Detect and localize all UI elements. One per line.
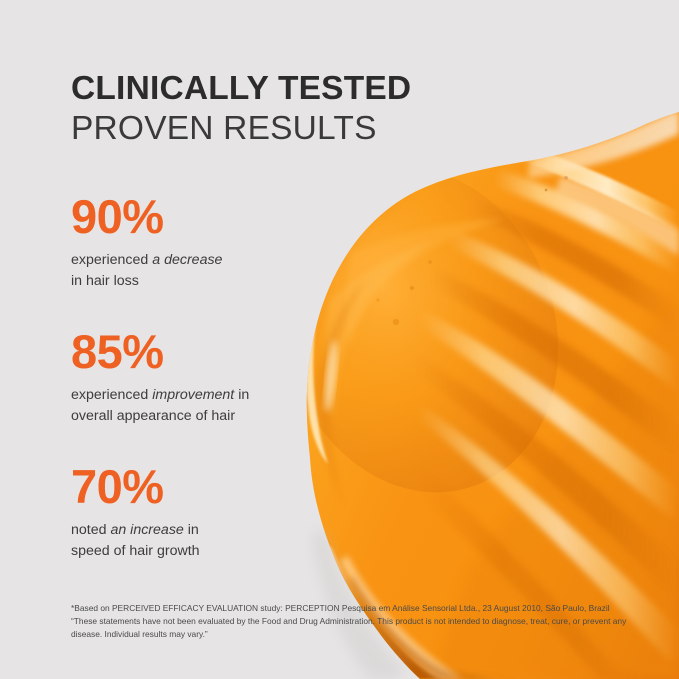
stat-desc-before: experienced: [71, 252, 152, 268]
footnote-disclaimer: *Based on PERCEIVED EFFICACY EVALUATION …: [71, 602, 631, 640]
stat-value: 85%: [71, 327, 249, 376]
stat-value: 90%: [71, 192, 222, 241]
infographic-canvas: CLINICALLY TESTED PROVEN RESULTS 90% exp…: [0, 0, 679, 679]
stat-desc-emphasis: an increase: [110, 522, 183, 538]
stat-desc-emphasis: a decrease: [152, 252, 222, 268]
headline-line-2: PROVEN RESULTS: [71, 109, 411, 149]
stat-description: noted an increase in speed of hair growt…: [71, 520, 200, 561]
stat-block-appearance: 85% experienced improvement in overall a…: [71, 327, 249, 427]
headline-line-1: CLINICALLY TESTED: [71, 69, 411, 109]
stat-desc-line2: overall appearance of hair: [71, 406, 249, 427]
stat-desc-after: in: [184, 522, 199, 538]
stat-block-hair-loss: 90% experienced a decrease in hair loss: [71, 192, 222, 292]
stat-desc-emphasis: improvement: [152, 387, 234, 403]
gel-streaks: [306, 146, 679, 679]
stat-value: 70%: [71, 462, 200, 511]
stat-desc-after: in: [234, 387, 249, 403]
stat-description: experienced improvement in overall appea…: [71, 385, 249, 426]
page-title: CLINICALLY TESTED PROVEN RESULTS: [71, 69, 411, 148]
stat-desc-before: noted: [71, 522, 110, 538]
stat-desc-before: experienced: [71, 387, 152, 403]
stat-desc-line2: speed of hair growth: [71, 541, 200, 562]
gel-body-group: [241, 90, 679, 679]
stat-description: experienced a decrease in hair loss: [71, 250, 222, 291]
stat-desc-line2: in hair loss: [71, 271, 222, 292]
footnote-fda-statement: “These statements have not been evaluate…: [71, 615, 631, 641]
gel-top-rim: [528, 110, 679, 256]
footnote-study-citation: *Based on PERCEIVED EFFICACY EVALUATION …: [71, 602, 631, 615]
stat-block-growth-speed: 70% noted an increase in speed of hair g…: [71, 462, 200, 562]
